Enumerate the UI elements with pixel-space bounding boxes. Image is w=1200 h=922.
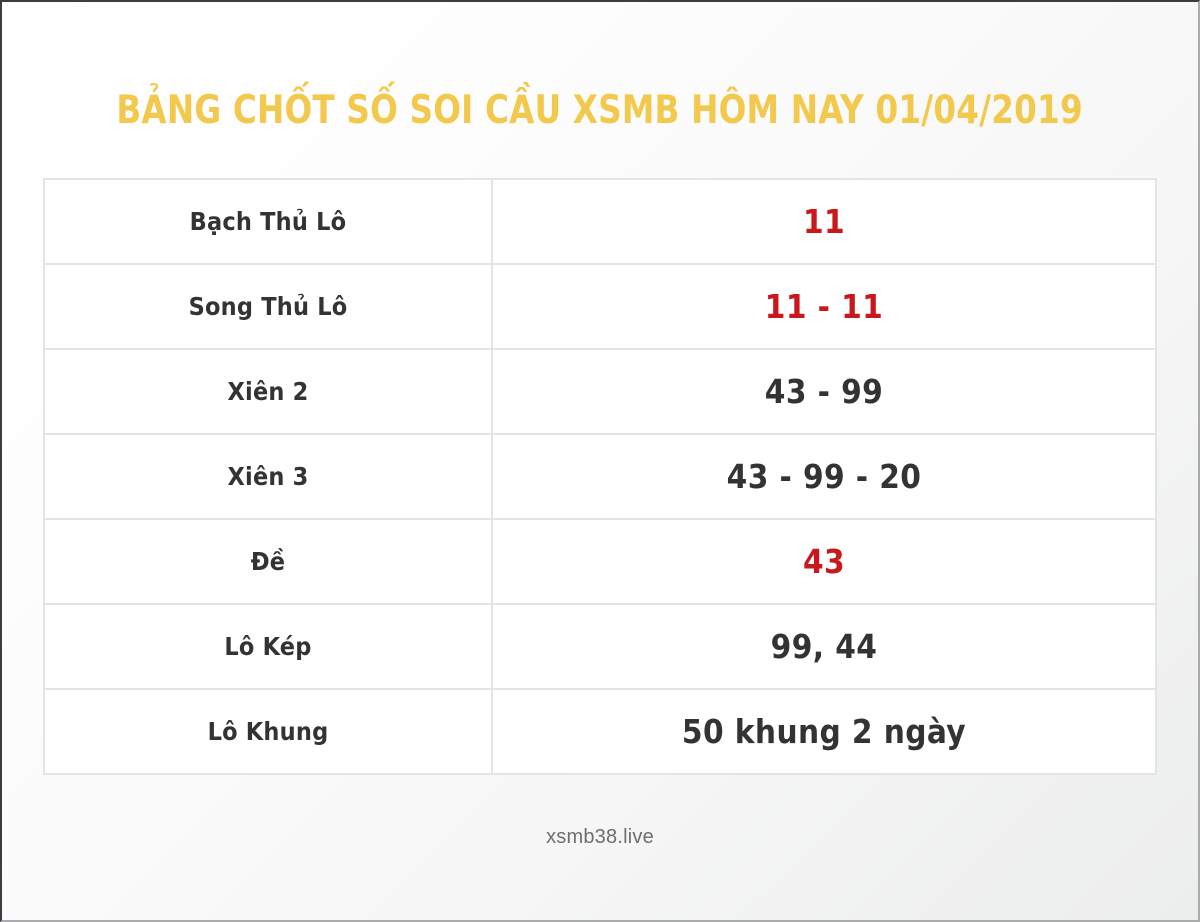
footer: xsmb38.live (2, 826, 1198, 849)
table-row: Xiên 2 43 - 99 (44, 349, 1156, 434)
row-label-song-thu-lo: Song Thủ Lô (44, 264, 492, 349)
row-label-lo-khung: Lô Khung (44, 689, 492, 774)
row-value-lo-kep: 99, 44 (492, 604, 1156, 689)
row-label-lo-kep: Lô Kép (44, 604, 492, 689)
row-value-song-thu-lo: 11 - 11 (492, 264, 1156, 349)
row-label-de: Đề (44, 519, 492, 604)
table-row: Đề 43 (44, 519, 1156, 604)
row-label-xien-3: Xiên 3 (44, 434, 492, 519)
row-value-xien-3: 43 - 99 - 20 (492, 434, 1156, 519)
site-credit: xsmb38.live (546, 826, 654, 848)
table-row: Song Thủ Lô 11 - 11 (44, 264, 1156, 349)
prediction-board: BẢNG CHỐT SỐ SOI CẦU XSMB HÔM NAY 01/04/… (0, 0, 1200, 922)
row-value-bach-thu-lo: 11 (492, 179, 1156, 264)
title-bar: BẢNG CHỐT SỐ SOI CẦU XSMB HÔM NAY 01/04/… (2, 90, 1198, 133)
page-title: BẢNG CHỐT SỐ SOI CẦU XSMB HÔM NAY 01/04/… (117, 90, 1083, 133)
table-row: Bạch Thủ Lô 11 (44, 179, 1156, 264)
prediction-table-body: Bạch Thủ Lô 11 Song Thủ Lô 11 - 11 Xiên … (44, 179, 1156, 774)
row-label-xien-2: Xiên 2 (44, 349, 492, 434)
row-value-lo-khung: 50 khung 2 ngày (492, 689, 1156, 774)
table-row: Lô Khung 50 khung 2 ngày (44, 689, 1156, 774)
table-row: Xiên 3 43 - 99 - 20 (44, 434, 1156, 519)
table-row: Lô Kép 99, 44 (44, 604, 1156, 689)
row-label-bach-thu-lo: Bạch Thủ Lô (44, 179, 492, 264)
row-value-xien-2: 43 - 99 (492, 349, 1156, 434)
prediction-table: Bạch Thủ Lô 11 Song Thủ Lô 11 - 11 Xiên … (43, 178, 1157, 775)
row-value-de: 43 (492, 519, 1156, 604)
